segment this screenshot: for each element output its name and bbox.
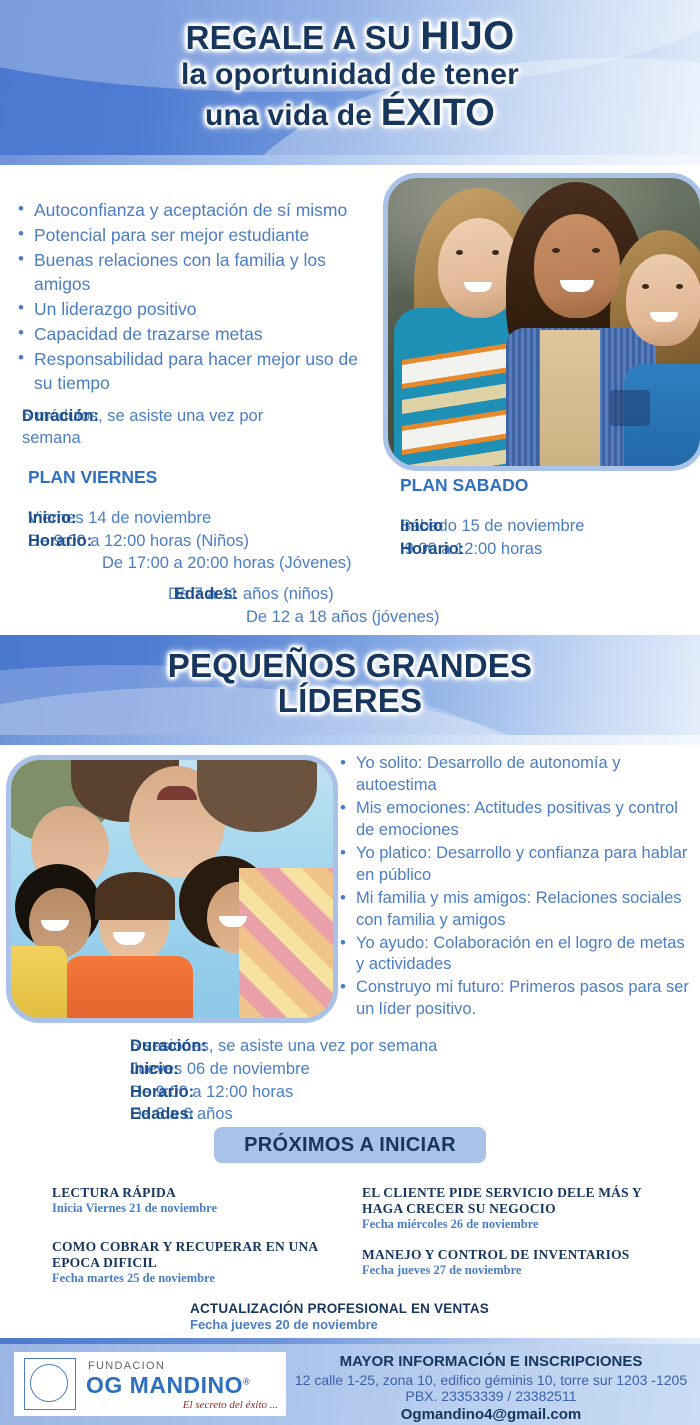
list-item: Capacidad de trazarse metas — [18, 323, 370, 347]
course-date: Fecha jueves 20 de noviembre — [190, 1317, 550, 1333]
plan-sabado-horario: Horario: 9:00 a 12:00 horas — [400, 538, 584, 561]
header-band-2: PEQUEÑOS GRANDES LÍDERES — [0, 635, 700, 735]
og-mandino-logo-icon — [24, 1358, 76, 1410]
course-date: Fecha jueves 27 de noviembre — [362, 1263, 662, 1278]
list-item: Yo platico: Desarrollo y confianza para … — [340, 843, 692, 887]
teens-photo — [383, 173, 700, 471]
contact-address: 12 calle 1-25, zona 10, edifico géminis … — [290, 1372, 692, 1388]
modules-list: Yo solito: Desarrollo de autonomía y aut… — [340, 753, 692, 1022]
logo-tagline: El secreto del éxito ... — [183, 1399, 278, 1411]
section-2-title-line-2: LÍDERES — [0, 684, 700, 719]
course-date: Inicia Viernes 21 de noviembre — [52, 1201, 352, 1216]
registered-trademark-icon: ® — [243, 1376, 250, 1386]
list-item: Potencial para ser mejor estudiante — [18, 224, 370, 248]
course-title: MANEJO Y CONTROL DE INVENTARIOS — [362, 1247, 662, 1263]
title-line-3: una vida de ÉXITO — [0, 94, 700, 133]
title-line-2: la oportunidad de tener — [0, 60, 700, 91]
header-band-1-underline — [0, 155, 700, 165]
course-item: COMO COBRAR Y RECUPERAR EN UNA EPOCA DIF… — [52, 1239, 342, 1286]
logo-fundacion-label: FUNDACION — [88, 1360, 165, 1372]
course-item: ACTUALIZACIÓN PROFESIONAL EN VENTAS Fech… — [190, 1301, 550, 1333]
list-item: Mi familia y mis amigos: Relaciones soci… — [340, 888, 692, 932]
benefits-list: Autoconfianza y aceptación de sí mismo P… — [18, 199, 370, 397]
section-kids: Yo solito: Desarrollo de autonomía y aut… — [0, 745, 700, 1345]
contact-title: MAYOR INFORMACIÓN E INSCRIPCIONES — [290, 1353, 692, 1370]
list-item: Yo solito: Desarrollo de autonomía y aut… — [340, 753, 692, 797]
list-item: Autoconfianza y aceptación de sí mismo — [18, 199, 370, 223]
course-title: COMO COBRAR Y RECUPERAR EN UNA EPOCA DIF… — [52, 1239, 342, 1271]
course-title: ACTUALIZACIÓN PROFESIONAL EN VENTAS — [190, 1301, 550, 1317]
ages-line-1: Edades:De 7 a 11 años (niños) — [160, 583, 440, 606]
section-2-title: PEQUEÑOS GRANDES LÍDERES — [0, 635, 700, 719]
course-title: EL CLIENTE PIDE SERVICIO DELE MÁS Y HAGA… — [362, 1185, 662, 1217]
header-band-2-underline — [0, 735, 700, 745]
duration-label: Duración: — [22, 405, 98, 427]
detail-row: Edades:De 3 a 6 años — [130, 1103, 437, 1126]
course-date: Fecha miércoles 26 de noviembre — [362, 1217, 662, 1232]
course-title: LECTURA RÁPIDA — [52, 1185, 352, 1201]
list-item: Construyo mi futuro: Primeros pasos para… — [340, 977, 692, 1021]
section-teens: Autoconfianza y aceptación de sí mismo P… — [0, 165, 700, 635]
detail-row: Duración:6 sesiones, se asiste una vez p… — [130, 1035, 437, 1058]
list-item: Mis emociones: Actitudes positivas y con… — [340, 798, 692, 842]
plan-viernes-horario: Horario:De 9:00 a 12:00 horas (Niños) — [28, 530, 352, 553]
course-item: EL CLIENTE PIDE SERVICIO DELE MÁS Y HAGA… — [362, 1185, 662, 1232]
plan-sabado-details: Inicio Sábado 15 de noviembre Horario: 9… — [400, 515, 584, 560]
course-item: MANEJO Y CONTROL DE INVENTARIOS Fecha ju… — [362, 1247, 662, 1278]
plan-viernes-inicio: Inicio:Viernes 14 de noviembre — [28, 507, 352, 530]
list-item: Yo ayudo: Colaboración en el logro de me… — [340, 933, 692, 977]
teens-duration: Duración:6 módulos, se asiste una vez po… — [22, 405, 382, 449]
detail-row: Inicio:Jueves 06 de noviembre — [130, 1058, 437, 1081]
list-item: Buenas relaciones con la familia y los a… — [18, 249, 370, 297]
plan-sabado-inicio: Inicio Sábado 15 de noviembre — [400, 515, 584, 538]
plan-viernes-horario-2: De 17:00 a 20:00 horas (Jóvenes) — [28, 552, 352, 575]
upcoming-banner: PRÓXIMOS A INICIAR — [214, 1127, 486, 1163]
section-2-title-line-1: PEQUEÑOS GRANDES — [0, 649, 700, 684]
plan-sabado-title: PLAN SABADO — [400, 475, 528, 496]
course-item: LECTURA RÁPIDA Inicia Viernes 21 de novi… — [52, 1185, 352, 1216]
kids-photo — [6, 755, 338, 1023]
header-band-1: REGALE A SU HIJO la oportunidad de tener… — [0, 0, 700, 155]
contact-email[interactable]: Ogmandino4@gmail.com — [290, 1406, 692, 1423]
page-title: REGALE A SU HIJO la oportunidad de tener… — [0, 0, 700, 133]
upcoming-courses: LECTURA RÁPIDA Inicia Viernes 21 de novi… — [0, 1185, 700, 1345]
detail-row: Horario:De 9:00 a 12:00 horas — [130, 1081, 437, 1104]
logo-box: FUNDACION OG MANDINO® El secreto del éxi… — [14, 1352, 286, 1416]
contact-phone: PBX. 23353339 / 23382511 — [290, 1388, 692, 1404]
kids-details: Duración:6 sesiones, se asiste una vez p… — [130, 1035, 437, 1126]
teens-ages: Edades:De 7 a 11 años (niños) De 12 a 18… — [160, 583, 440, 628]
title-line-1: REGALE A SU HIJO — [0, 16, 700, 57]
plan-viernes-details: Inicio:Viernes 14 de noviembre Horario:D… — [28, 507, 352, 575]
list-item: Un liderazgo positivo — [18, 298, 370, 322]
logo-name: OG MANDINO® — [86, 1372, 250, 1399]
flyer-page: REGALE A SU HIJO la oportunidad de tener… — [0, 0, 700, 1425]
footer: FUNDACION OG MANDINO® El secreto del éxi… — [0, 1344, 700, 1425]
plan-viernes-title: PLAN VIERNES — [28, 467, 157, 488]
list-item: Responsabilidad para hacer mejor uso de … — [18, 348, 370, 396]
footer-contact-info: MAYOR INFORMACIÓN E INSCRIPCIONES 12 cal… — [290, 1353, 692, 1423]
ages-line-2: De 12 a 18 años (jóvenes) — [160, 606, 440, 629]
course-date: Fecha martes 25 de noviembre — [52, 1271, 342, 1286]
